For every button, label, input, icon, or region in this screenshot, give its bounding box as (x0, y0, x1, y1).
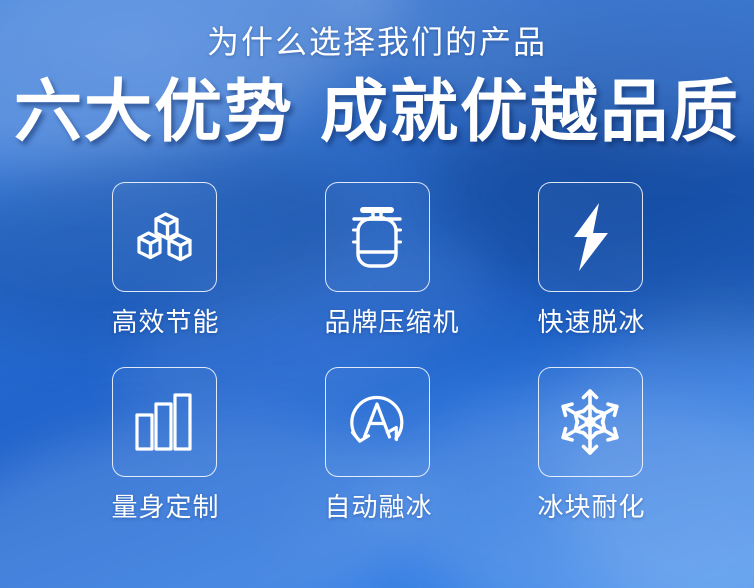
feature-item-custom-made[interactable]: 量身定制 (112, 367, 217, 520)
poster-header: 为什么选择我们的产品 六大优势成就优越品质 (0, 0, 754, 146)
ice-cubes-icon (130, 206, 198, 268)
bar-chart-icon (132, 391, 196, 453)
feature-item-fast-deicing[interactable]: 快速脱冰 (538, 182, 643, 335)
compressor-icon (346, 202, 408, 272)
poster-title-left: 六大优势 (14, 74, 294, 150)
poster-title: 六大优势成就优越品质 (0, 78, 754, 146)
promotional-poster: 为什么选择我们的产品 六大优势成就优越品质 (0, 0, 754, 588)
feature-label: 快速脱冰 (538, 309, 643, 335)
feature-label: 高效节能 (112, 309, 217, 335)
feature-label: 冰块耐化 (538, 494, 643, 520)
feature-icon-card (538, 182, 643, 292)
feature-icon-card (112, 367, 217, 477)
feature-icon-card (538, 367, 643, 477)
feature-icon-card (112, 182, 217, 292)
auto-cycle-icon (341, 386, 413, 458)
feature-icon-card (325, 182, 430, 292)
feature-label: 自动融冰 (325, 494, 430, 520)
poster-title-right: 成就优越品质 (320, 74, 740, 150)
feature-item-slow-melting[interactable]: 冰块耐化 (538, 367, 643, 520)
feature-item-efficient-energy[interactable]: 高效节能 (112, 182, 217, 335)
snowflake-icon (555, 387, 625, 457)
feature-item-auto-deicing[interactable]: 自动融冰 (325, 367, 430, 520)
feature-grid: 高效节能 (110, 182, 644, 520)
feature-label: 量身定制 (112, 494, 217, 520)
feature-item-brand-compressor[interactable]: 品牌压缩机 (325, 182, 430, 335)
lightning-bolt-icon (563, 200, 617, 274)
feature-icon-card (325, 367, 430, 477)
feature-label: 品牌压缩机 (325, 309, 430, 335)
poster-subtitle: 为什么选择我们的产品 (0, 26, 754, 58)
